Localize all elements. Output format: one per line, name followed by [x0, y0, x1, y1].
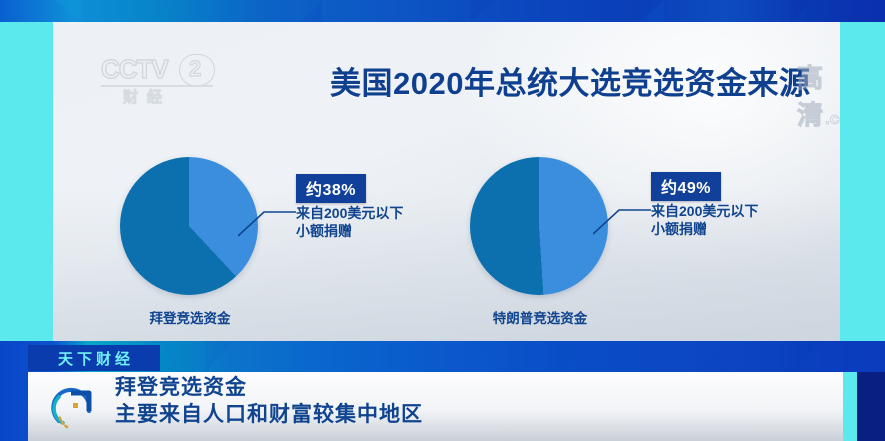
banner-shape-2 [205, 341, 233, 372]
topbar-shape-5 [640, 0, 664, 22]
headline-strip-end-block [857, 372, 885, 441]
callout-leader-trump [593, 198, 653, 238]
program-tag-label: 天下财经 [54, 348, 134, 369]
topbar-shape-2 [150, 0, 176, 22]
percent-badge-biden: 约38% [296, 174, 366, 203]
headline-strip-cyan-cap [843, 372, 857, 441]
program-logo-icon [45, 377, 103, 435]
top-decorative-bar [0, 0, 885, 22]
headline-line-1: 拜登竞选资金 [115, 375, 423, 402]
cctv-logo-number: 2 [189, 56, 201, 82]
pie-caption-trump: 特朗普竞选资金 [470, 307, 610, 327]
main-stage: CCTV 2 财经 美国2020年总统大选竞选资金来源 高清.com 拜登竞选资… [53, 22, 840, 341]
headline-line-2: 主要来自人口和财富较集中地区 [115, 402, 423, 429]
pie-chart-trump: 特朗普竞选资金 [470, 157, 610, 332]
callout-leader-biden [238, 200, 298, 240]
pie-slices-trump [470, 157, 608, 295]
headline-text: 拜登竞选资金 主要来自人口和财富较集中地区 [115, 375, 423, 429]
program-tag: 天下财经 [28, 345, 160, 371]
callout-trump: 约49% 来自200美元以下 小额捐赠 [651, 172, 758, 238]
broadcast-screen: CCTV 2 财经 美国2020年总统大选竞选资金来源 高清.com 拜登竞选资… [0, 0, 885, 441]
callout-text-trump: 来自200美元以下 小额捐赠 [651, 203, 758, 238]
percent-badge-trump: 约49% [651, 172, 721, 201]
callout-text-biden: 来自200美元以下 小额捐赠 [296, 205, 403, 240]
banner-shape-3 [470, 341, 496, 372]
topbar-shape-1 [55, 0, 81, 22]
topbar-shape-4 [470, 0, 494, 22]
cctv-logo-subtitle: 财经 [123, 86, 171, 107]
cctv-logo-text: CCTV [101, 54, 168, 85]
banner-shape-6 [795, 341, 821, 372]
callout-line2-trump: 小额捐赠 [651, 221, 758, 239]
page-title: 美国2020年总统大选竞选资金来源 [330, 58, 810, 103]
banner-shape-5 [700, 341, 728, 372]
left-cyan-stripe [0, 22, 53, 341]
right-cyan-stripe [840, 22, 885, 341]
callout-line1-biden: 来自200美元以下 [296, 205, 403, 223]
cctv-logo: CCTV 2 财经 [101, 52, 221, 110]
callout-biden: 约38% 来自200美元以下 小额捐赠 [296, 174, 403, 240]
banner-shape-4 [560, 341, 586, 372]
topbar-shape-3 [300, 0, 322, 22]
pie-chart-biden: 拜登竞选资金 [120, 157, 260, 332]
callout-line1-trump: 来自200美元以下 [651, 203, 758, 221]
topbar-shape-6 [790, 0, 812, 22]
lower-third-banner: 天下财经 拜登竞选资金 主要来自人口和财富较集中地区 [0, 341, 885, 441]
callout-line2-biden: 小额捐赠 [296, 223, 403, 241]
pie-caption-biden: 拜登竞选资金 [120, 307, 260, 327]
